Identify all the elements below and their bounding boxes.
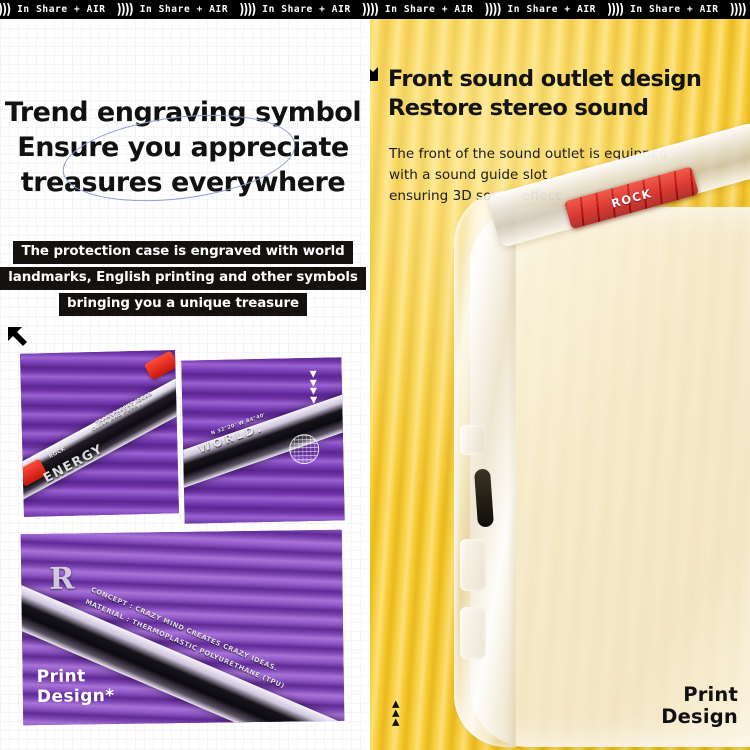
right-caption-line-2: Design: [661, 706, 738, 728]
banner-text: In Share + AIR: [17, 4, 114, 15]
product-photo-world: N 32°20' W 84°40' WORLD. ▾▾▾▾: [181, 357, 344, 523]
right-caption-print-design: Print Design: [661, 684, 738, 728]
right-panel: Front sound outlet design Restore stereo…: [370, 19, 750, 750]
banner-text: In Share + AIR: [630, 4, 727, 15]
side-button-cutout-top: [460, 425, 486, 455]
product-photo-print-design: R CONCEPT : CRAZY MIND CREATES CRAZY IDE…: [21, 530, 345, 725]
right-caption-line-1: Print: [661, 684, 738, 706]
right-heading-line-1: Front sound outlet design: [388, 65, 744, 94]
banner-unit: )))) In Share + AIR: [0, 3, 115, 16]
rock-button-label: ROCK: [610, 186, 654, 211]
left-heading-line-3: treasures everywhere: [4, 165, 362, 200]
banner-chevron-icon: )))): [0, 1, 17, 17]
highlight-line-1: The protection case is engraved with wor…: [13, 241, 352, 264]
left-heading-line-1: Trend engraving symbol: [4, 95, 362, 130]
banner-chevron-icon: )))): [360, 1, 385, 17]
caption-line-2: Design*: [37, 686, 115, 707]
banner-unit: )))) In Share + AIR: [360, 3, 483, 16]
side-button-cutout-bottom: [460, 539, 486, 591]
highlight-line-2: landmarks, English printing and other sy…: [0, 267, 365, 290]
banner-chevron-icon: )))): [728, 1, 750, 17]
photo-caption-print-design: Print Design*: [37, 666, 115, 707]
side-button-cutout-lower: [460, 607, 486, 659]
banner-unit: )))) In Share + AIR: [728, 3, 750, 16]
banner-unit: )))) In Share + AIR: [482, 3, 605, 16]
rock-r-logo: R: [49, 562, 74, 597]
banner-chevron-icon: )))): [482, 1, 507, 17]
chevron-up-stack-icon: ▴▴▴: [392, 699, 400, 726]
banner-text: In Share + AIR: [140, 4, 237, 15]
banner-text: In Share + AIR: [262, 4, 359, 15]
banner-unit: )))) In Share + AIR: [237, 3, 360, 16]
arrow-up-left-icon: [6, 325, 32, 351]
right-heading: Front sound outlet design Restore stereo…: [388, 65, 744, 123]
banner-chevron-icon: )))): [115, 1, 140, 17]
banner-unit: )))) In Share + AIR: [605, 3, 728, 16]
banner-unit: )))) In Share + AIR: [115, 3, 238, 16]
product-photo-energy: ROCK ENERGY TRANSPARENT IDEAS CLEAR AND …: [20, 350, 179, 517]
chevron-down-stack-icon: ▾▾▾▾: [310, 370, 318, 405]
left-heading-line-2: Ensure you appreciate: [4, 130, 362, 165]
banner-track: )))) In Share + AIR )))) In Share + AIR …: [0, 3, 750, 16]
banner-text: In Share + AIR: [385, 4, 482, 15]
left-panel: Trend engraving symbol Ensure you apprec…: [0, 19, 366, 750]
right-heading-line-2: Restore stereo sound: [388, 94, 744, 123]
banner-chevron-icon: )))): [237, 1, 262, 17]
highlight-line-3: bringing you a unique treasure: [59, 293, 307, 316]
banner-chevron-icon: )))): [605, 1, 630, 17]
arrow-down-right-icon: [370, 57, 380, 83]
left-heading: Trend engraving symbol Ensure you apprec…: [4, 95, 362, 200]
product-infographic-page: )))) In Share + AIR )))) In Share + AIR …: [0, 0, 750, 750]
banner-text: In Share + AIR: [507, 4, 604, 15]
clear-phone-case-photo: ROCK: [440, 179, 750, 739]
top-marquee-banner: )))) In Share + AIR )))) In Share + AIR …: [0, 0, 750, 19]
left-highlight-block: The protection case is engraved with wor…: [0, 241, 366, 319]
caption-line-1: Print: [37, 666, 115, 687]
